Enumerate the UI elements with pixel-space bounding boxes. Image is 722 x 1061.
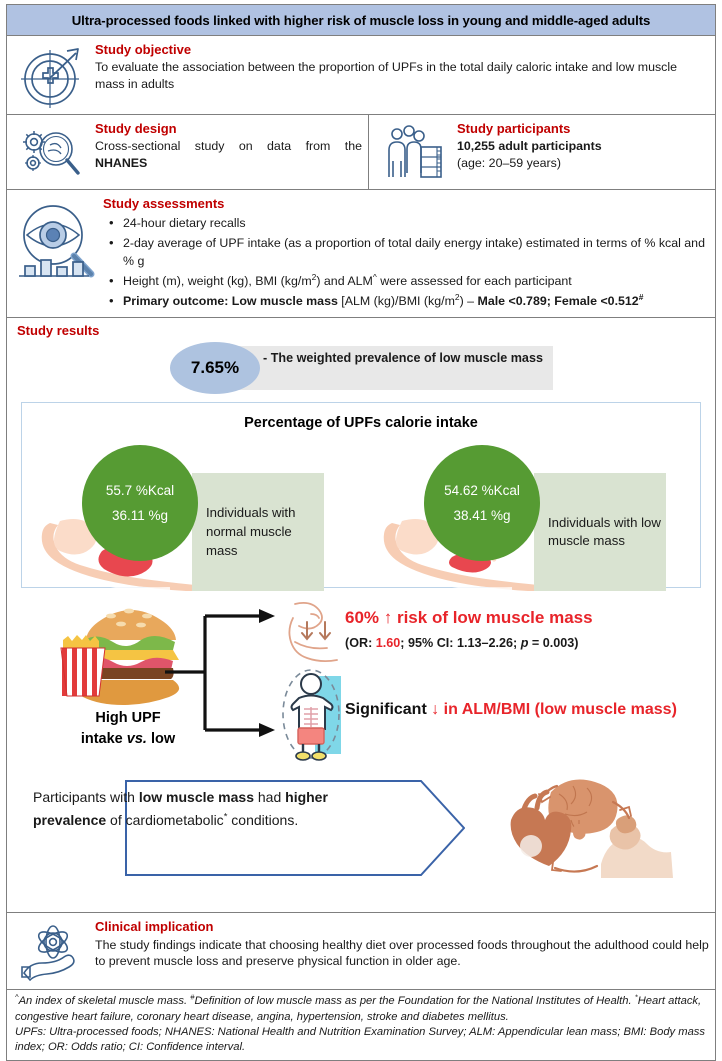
outcome2-red-text: in ALM/BMI (low muscle mass) (439, 701, 677, 718)
brain-heart-hand-icon (493, 772, 673, 878)
participants-age: (age: 20–59 years) (457, 155, 709, 171)
group-low-label-box: Individuals with low muscle mass (534, 473, 666, 591)
participants-count: 10,255 adult participants (457, 138, 709, 154)
outcome1-stats-rest: ; 95% CI: 1.13–2.26; p = 0.003) (400, 636, 578, 650)
list-item: Height (m), weight (kg), BMI (kg/m2) and… (123, 273, 709, 291)
outcome1-percent: 60% ↑ (345, 608, 392, 627)
list-item: Primary outcome: Low muscle mass [ALM (k… (123, 293, 709, 311)
footnote-line-1: ^An index of skeletal muscle mass. #Defi… (15, 994, 707, 1024)
group-normal-values: 55.7 %Kcal 36.11 %g (82, 445, 198, 561)
study-design-source: NHANES (95, 156, 147, 170)
infographic-page: Ultra-processed foods linked with higher… (0, 0, 722, 1024)
outcome1-headline-rest: risk of low muscle mass (392, 608, 592, 627)
study-assessments-row: Study assessments 24-hour dietary recall… (6, 190, 716, 318)
study-participants-heading: Study participants (457, 121, 709, 137)
calorie-panel-title: Percentage of UPFs calorie intake (22, 415, 700, 431)
group-low-values: 54.62 %Kcal 38.41 %g (424, 445, 540, 561)
outcomes-flow: High UPF intake vs. low (15, 594, 707, 772)
outcome2-text: Significant ↓ in ALM/BMI (low muscle mas… (345, 699, 722, 721)
group-low-gram: 38.41 %g (453, 503, 510, 529)
prevalence-label: - The weighted prevalence of low muscle … (263, 350, 543, 366)
outcome1-stats-prefix: (OR: (345, 636, 376, 650)
atom-hand-icon (15, 919, 89, 983)
callout-seg-b: had (254, 789, 285, 805)
study-design-body-text: Cross-sectional study on data from the (95, 139, 362, 153)
study-objective-row: Study objective To evaluate the associat… (6, 36, 716, 115)
callout-seg-d: conditions. (227, 812, 298, 828)
bicep-down-arrows-icon (281, 598, 343, 664)
callout-bold-low-muscle-mass: low muscle mass (139, 789, 254, 805)
outcome1-odds-ratio: 1.60 (376, 636, 401, 650)
target-arrow-icon (15, 42, 89, 108)
gear-magnifier-icon (15, 121, 89, 183)
study-assessments-heading: Study assessments (103, 196, 709, 212)
cardiometabolic-callout-wrap: Participants with low muscle mass had hi… (15, 772, 707, 880)
assessments-list: 24-hour dietary recalls 2-day average of… (103, 215, 709, 311)
list-item: 2-day average of UPF intake (as a propor… (123, 235, 709, 270)
callout-seg-c: of cardiometabolic (106, 812, 224, 828)
results-bottom-spacer (15, 880, 707, 906)
study-design-body: Cross-sectional study on data from the N… (95, 138, 362, 171)
study-objective-body: To evaluate the association between the … (95, 59, 709, 92)
eye-magnifier-icon (15, 196, 101, 313)
cardiometabolic-callout-text: Participants with low muscle mass had hi… (33, 786, 333, 831)
group-normal-kcal: 55.7 %Kcal (106, 478, 174, 504)
group-normal-label: Individuals with normal muscle mass (206, 504, 324, 560)
group-low-kcal: 54.62 %Kcal (444, 478, 520, 504)
clinical-implication-row: Clinical implication The study findings … (6, 913, 716, 990)
prevalence-badge: 7.65% (170, 342, 260, 394)
study-results-section: Study results 7.65% - The weighted preva… (6, 318, 716, 913)
flow-bracket-arrows (163, 602, 283, 742)
people-chart-icon (377, 121, 451, 183)
list-item: 24-hour dietary recalls (123, 215, 709, 233)
prevalence-block: 7.65% - The weighted prevalence of low m… (15, 342, 707, 394)
outcome1-headline: 60% ↑ risk of low muscle mass (345, 608, 593, 628)
study-objective-heading: Study objective (95, 42, 709, 58)
clinical-implication-heading: Clinical implication (95, 919, 709, 935)
header-banner: Ultra-processed foods linked with higher… (6, 4, 716, 36)
design-participants-row: Study design Cross-sectional study on da… (6, 115, 716, 190)
study-design-heading: Study design (95, 121, 362, 137)
page-title: Ultra-processed foods linked with higher… (72, 13, 650, 28)
outcome2-prefix: Significant (345, 701, 431, 718)
footnotes-section: ^An index of skeletal muscle mass. #Defi… (6, 990, 716, 1061)
clinical-implication-body: The study findings indicate that choosin… (95, 937, 709, 970)
group-normal-gram: 36.11 %g (112, 503, 168, 529)
outcome1-stats: (OR: 1.60; 95% CI: 1.13–2.26; p = 0.003) (345, 636, 578, 650)
calorie-intake-panel: Percentage of UPFs calorie intake Indivi… (21, 402, 701, 588)
thin-person-ribs-icon (277, 664, 349, 764)
footnote-line-2: UPFs: Ultra-processed foods; NHANES: Nat… (15, 1025, 707, 1055)
group-low-label: Individuals with low muscle mass (548, 514, 666, 551)
callout-seg-a: Participants with (33, 789, 139, 805)
group-normal-label-box: Individuals with normal muscle mass (192, 473, 324, 591)
study-results-heading: Study results (17, 323, 707, 338)
